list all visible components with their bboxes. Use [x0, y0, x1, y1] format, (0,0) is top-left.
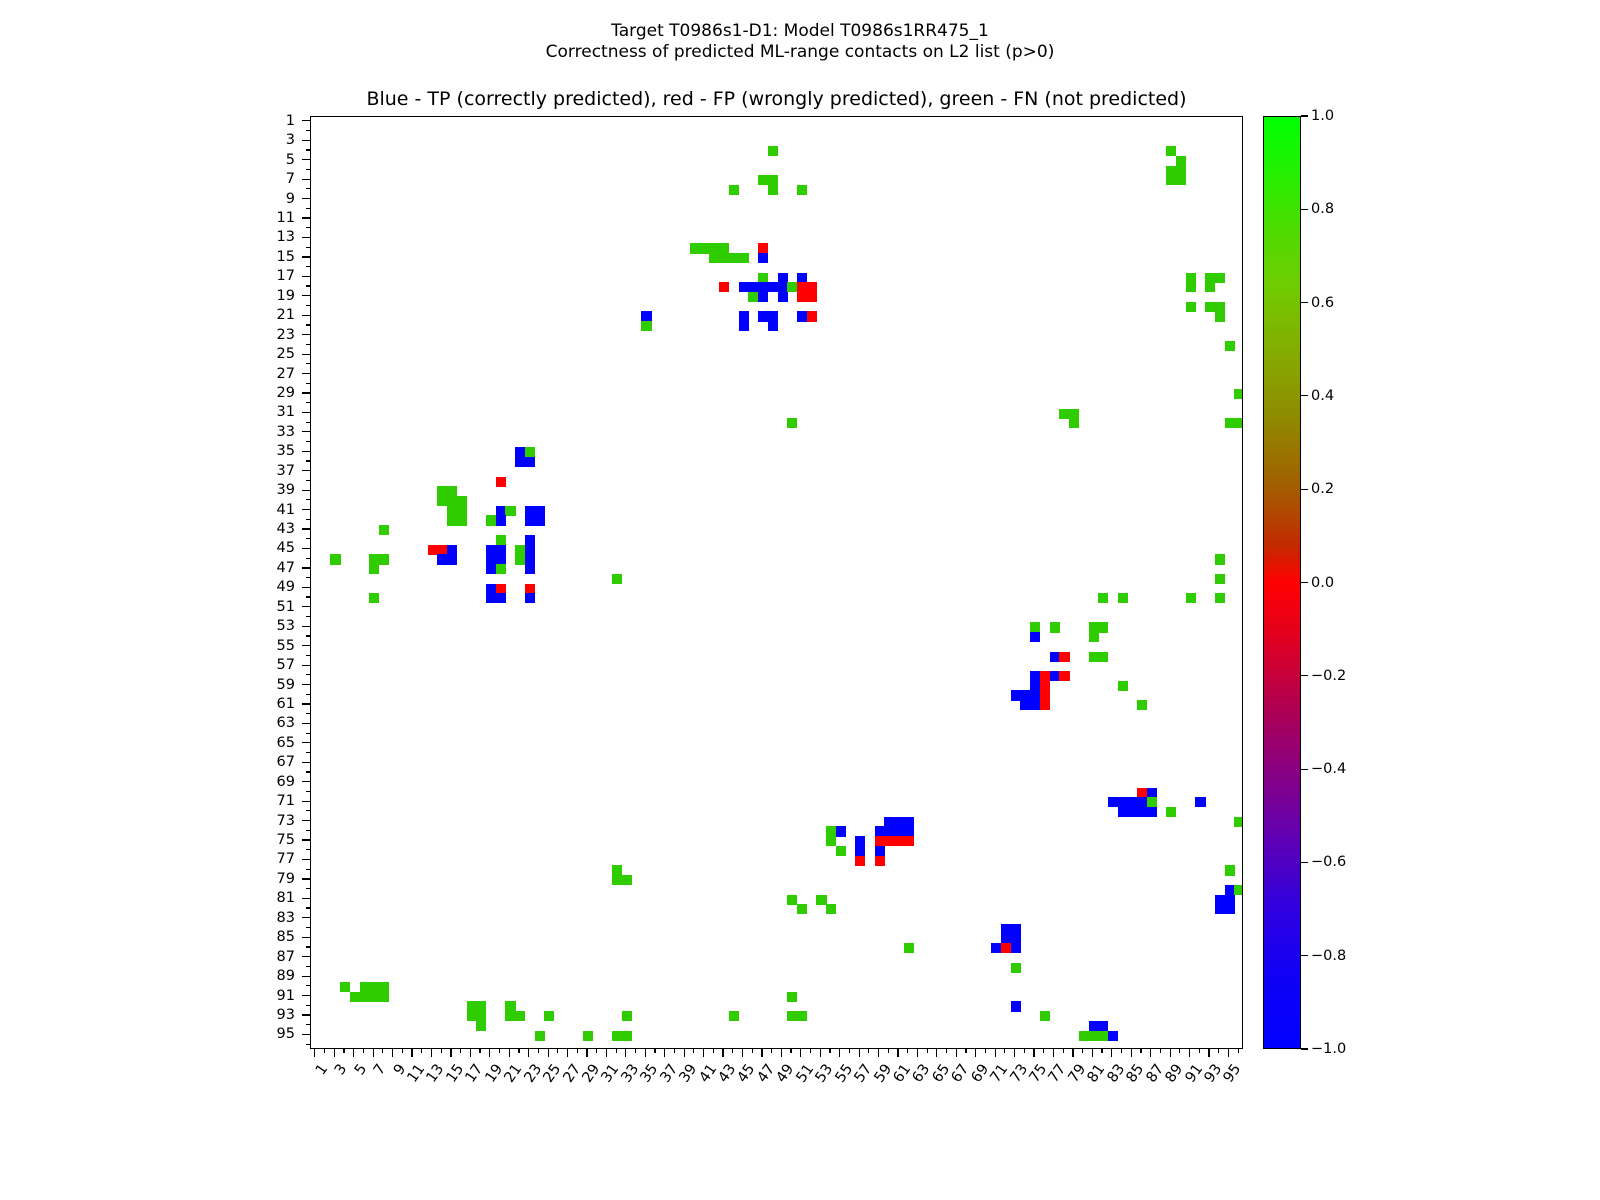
colorbar-tick-mark	[1301, 302, 1308, 303]
y-tick-mark	[302, 937, 310, 938]
contact-cell	[457, 496, 467, 506]
contact-cell	[1011, 963, 1021, 973]
contact-cell	[525, 593, 535, 603]
y-tick-label: 9	[235, 192, 295, 207]
y-tick-label: 17	[235, 269, 295, 284]
contact-cell	[1137, 807, 1147, 817]
colorbar-tick-label: 0.4	[1311, 389, 1334, 404]
y-tick-minor	[306, 227, 310, 228]
contact-cell	[884, 817, 894, 827]
x-tick-minor	[324, 1049, 325, 1053]
x-tick-minor	[518, 1049, 519, 1053]
contact-cell	[1030, 671, 1040, 681]
x-tick-mark	[314, 1049, 315, 1057]
x-tick-minor	[1101, 1049, 1102, 1053]
contact-cell	[1011, 933, 1021, 943]
colorbar-tick-label: −0.4	[1311, 762, 1346, 777]
contact-cell	[797, 282, 807, 292]
contact-cell	[894, 826, 904, 836]
contact-cell	[1050, 671, 1060, 681]
contact-cell	[496, 593, 506, 603]
contact-cell	[758, 273, 768, 283]
x-tick-mark	[509, 1049, 510, 1057]
contact-cell	[816, 895, 826, 905]
x-tick-minor	[654, 1049, 655, 1053]
colorbar-tick-label: 0.2	[1311, 482, 1334, 497]
contact-cell	[428, 545, 438, 555]
contact-cell	[991, 943, 1001, 953]
x-tick-minor	[829, 1049, 830, 1053]
contact-cell	[1098, 1021, 1108, 1031]
contact-cell	[1059, 671, 1069, 681]
contact-cell	[1069, 409, 1079, 419]
contact-cell	[1089, 1031, 1099, 1041]
y-tick-mark	[302, 354, 310, 355]
x-tick-mark	[431, 1049, 432, 1057]
contact-cell	[1186, 273, 1196, 283]
contact-cell	[875, 836, 885, 846]
x-tick-minor	[538, 1049, 539, 1053]
contact-cell	[612, 574, 622, 584]
y-tick-minor	[306, 169, 310, 170]
x-tick-mark	[897, 1049, 898, 1057]
contact-cell	[797, 311, 807, 321]
y-tick-minor	[306, 208, 310, 209]
contact-cell	[904, 943, 914, 953]
contact-cell	[1040, 690, 1050, 700]
contact-cell	[768, 311, 778, 321]
x-tick-minor	[985, 1049, 986, 1053]
y-tick-minor	[306, 266, 310, 267]
contact-cell	[525, 457, 535, 467]
x-tick-mark	[353, 1049, 354, 1057]
contact-cell	[515, 1011, 525, 1021]
y-tick-label: 41	[235, 503, 295, 518]
contact-cell	[496, 477, 506, 487]
contact-cell	[330, 554, 340, 564]
contact-cell	[641, 321, 651, 331]
y-tick-label: 3	[235, 133, 295, 148]
contact-cell	[525, 584, 535, 594]
y-tick-label: 91	[235, 989, 295, 1004]
contact-cell	[1098, 652, 1108, 662]
contact-cell	[894, 817, 904, 827]
contact-cell	[1089, 652, 1099, 662]
y-tick-mark	[302, 315, 310, 316]
y-tick-mark	[302, 898, 310, 899]
contact-cell	[758, 175, 768, 185]
y-tick-minor	[306, 383, 310, 384]
x-tick-mark	[528, 1049, 529, 1057]
y-tick-mark	[302, 431, 310, 432]
y-tick-mark	[302, 762, 310, 763]
contact-cell	[476, 1011, 486, 1021]
contact-cell	[505, 1001, 515, 1011]
x-tick-mark	[1208, 1049, 1209, 1057]
y-tick-label: 65	[235, 736, 295, 751]
x-tick-mark	[392, 1049, 393, 1057]
contact-cell	[1011, 1001, 1021, 1011]
x-tick-mark	[1072, 1049, 1073, 1057]
contact-cell	[505, 506, 515, 516]
contact-cell	[1186, 302, 1196, 312]
colorbar-tick-mark	[1301, 675, 1308, 676]
colorbar-tick-label: 0.6	[1311, 296, 1334, 311]
colorbar[interactable]	[1263, 116, 1301, 1049]
x-tick-minor	[965, 1049, 966, 1053]
x-tick-mark	[548, 1049, 549, 1057]
contact-cell	[768, 146, 778, 156]
y-tick-label: 13	[235, 230, 295, 245]
contact-cell	[875, 846, 885, 856]
y-tick-label: 19	[235, 289, 295, 304]
x-tick-minor	[771, 1049, 772, 1053]
contact-cell	[797, 292, 807, 302]
colorbar-tick-label: 0.8	[1311, 202, 1334, 217]
contact-cell	[1089, 622, 1099, 632]
y-tick-mark	[302, 878, 310, 879]
y-tick-label: 31	[235, 405, 295, 420]
y-tick-label: 25	[235, 347, 295, 362]
contact-cell	[525, 554, 535, 564]
contact-cell	[515, 447, 525, 457]
y-tick-minor	[306, 869, 310, 870]
x-tick-minor	[1063, 1049, 1064, 1053]
y-tick-mark	[302, 256, 310, 257]
contact-cell	[496, 535, 506, 545]
y-tick-minor	[306, 849, 310, 850]
x-tick-minor	[946, 1049, 947, 1053]
x-tick-minor	[1140, 1049, 1141, 1053]
y-tick-minor	[306, 733, 310, 734]
y-tick-label: 75	[235, 833, 295, 848]
contact-cell	[884, 836, 894, 846]
contact-cell	[360, 982, 370, 992]
x-tick-minor	[1121, 1049, 1122, 1053]
contact-cell	[1108, 1031, 1118, 1041]
x-tick-minor	[693, 1049, 694, 1053]
contact-cell	[1137, 797, 1147, 807]
contact-cell	[768, 282, 778, 292]
x-tick-minor	[1160, 1049, 1161, 1053]
x-tick-mark	[820, 1049, 821, 1057]
x-tick-mark	[1014, 1049, 1015, 1057]
y-tick-mark	[302, 237, 310, 238]
contact-cell	[525, 515, 535, 525]
x-tick-mark	[664, 1049, 665, 1057]
x-tick-mark	[742, 1049, 743, 1057]
contact-cell	[340, 982, 350, 992]
x-tick-mark	[761, 1049, 762, 1057]
y-tick-label: 73	[235, 814, 295, 829]
colorbar-tick-label: −0.2	[1311, 669, 1346, 684]
y-tick-mark	[302, 140, 310, 141]
contact-cell	[826, 826, 836, 836]
y-tick-mark	[302, 412, 310, 413]
contact-cell	[1225, 885, 1235, 895]
contact-cell	[875, 856, 885, 866]
y-tick-mark	[302, 276, 310, 277]
contact-cell	[797, 1011, 807, 1021]
x-tick-mark	[586, 1049, 587, 1057]
y-tick-label: 21	[235, 308, 295, 323]
y-tick-mark	[302, 801, 310, 802]
y-tick-mark	[302, 684, 310, 685]
contact-cell	[855, 836, 865, 846]
contact-cell	[1020, 700, 1030, 710]
y-tick-mark	[302, 1014, 310, 1015]
contact-cell	[1030, 690, 1040, 700]
x-tick-mark	[936, 1049, 937, 1057]
contact-cell	[1147, 788, 1157, 798]
contact-cell	[768, 321, 778, 331]
contact-cell	[855, 856, 865, 866]
y-tick-label: 45	[235, 541, 295, 556]
colorbar-tick-mark	[1301, 1048, 1308, 1049]
figure-suptitle-line1: Target T0986s1-D1: Model T0986s1RR475_1	[0, 20, 1600, 43]
contact-cell	[457, 506, 467, 516]
x-tick-minor	[810, 1049, 811, 1053]
y-tick-mark	[302, 839, 310, 840]
y-tick-mark	[302, 120, 310, 121]
y-tick-minor	[306, 655, 310, 656]
contact-map-cells	[311, 117, 1242, 1048]
y-tick-minor	[306, 771, 310, 772]
y-tick-label: 87	[235, 950, 295, 965]
x-tick-minor	[382, 1049, 383, 1053]
x-tick-mark	[917, 1049, 918, 1057]
y-tick-label: 53	[235, 619, 295, 634]
y-tick-minor	[306, 810, 310, 811]
y-tick-minor	[306, 441, 310, 442]
x-tick-mark	[1131, 1049, 1132, 1057]
contact-cell	[1108, 797, 1118, 807]
contact-cell	[447, 545, 457, 555]
contact-cell	[1098, 1031, 1108, 1041]
x-tick-mark	[567, 1049, 568, 1057]
contact-cell	[904, 836, 914, 846]
y-tick-minor	[306, 538, 310, 539]
contact-cell	[379, 992, 389, 1002]
contact-cell	[758, 282, 768, 292]
contact-cell	[807, 292, 817, 302]
contact-cell	[1205, 273, 1215, 283]
y-tick-label: 1	[235, 114, 295, 129]
contact-cell	[1137, 700, 1147, 710]
contact-cell	[1195, 797, 1205, 807]
x-tick-minor	[363, 1049, 364, 1053]
contact-cell	[729, 185, 739, 195]
x-tick-minor	[402, 1049, 403, 1053]
y-tick-label: 49	[235, 580, 295, 595]
y-tick-mark	[302, 198, 310, 199]
x-tick-minor	[849, 1049, 850, 1053]
contact-cell	[1011, 690, 1021, 700]
y-tick-mark	[302, 392, 310, 393]
contact-cell	[622, 875, 632, 885]
contact-cell	[1001, 924, 1011, 934]
colorbar-tick-mark	[1301, 955, 1308, 956]
contact-cell	[437, 545, 447, 555]
y-tick-label: 47	[235, 561, 295, 576]
contact-cell	[1147, 797, 1157, 807]
contact-map-plot-area[interactable]	[310, 116, 1243, 1049]
contact-cell	[1225, 865, 1235, 875]
y-tick-minor	[306, 985, 310, 986]
contact-cell	[525, 564, 535, 574]
contact-cell	[719, 243, 729, 253]
contact-cell	[729, 1011, 739, 1021]
y-tick-minor	[306, 791, 310, 792]
contact-cell	[1040, 700, 1050, 710]
y-tick-minor	[306, 635, 310, 636]
contact-cell	[486, 515, 496, 525]
x-tick-minor	[1043, 1049, 1044, 1053]
contact-cell	[1176, 156, 1186, 166]
contact-cell	[787, 1011, 797, 1021]
y-tick-label: 43	[235, 522, 295, 537]
y-tick-label: 63	[235, 716, 295, 731]
x-tick-minor	[1218, 1049, 1219, 1053]
x-tick-mark	[684, 1049, 685, 1057]
y-tick-mark	[302, 723, 310, 724]
colorbar-tick-mark	[1301, 862, 1308, 863]
y-tick-minor	[306, 596, 310, 597]
contact-cell	[807, 282, 817, 292]
y-tick-mark	[302, 587, 310, 588]
x-tick-minor	[907, 1049, 908, 1053]
contact-cell	[1215, 574, 1225, 584]
x-tick-minor	[1024, 1049, 1025, 1053]
x-tick-mark	[1170, 1049, 1171, 1057]
contact-cell	[1059, 652, 1069, 662]
y-tick-mark	[302, 490, 310, 491]
contact-cell	[1166, 146, 1176, 156]
contact-cell	[1069, 418, 1079, 428]
contact-cell	[525, 545, 535, 555]
x-tick-minor	[1082, 1049, 1083, 1053]
y-tick-label: 27	[235, 367, 295, 382]
contact-cell	[787, 418, 797, 428]
contact-cell	[1011, 943, 1021, 953]
contact-cell	[369, 992, 379, 1002]
x-tick-mark	[1150, 1049, 1151, 1057]
x-tick-minor	[577, 1049, 578, 1053]
contact-cell	[748, 282, 758, 292]
y-tick-minor	[306, 1044, 310, 1045]
contact-cell	[807, 311, 817, 321]
x-tick-mark	[1092, 1049, 1093, 1057]
y-tick-minor	[306, 519, 310, 520]
contact-cell	[1225, 418, 1235, 428]
y-tick-minor	[306, 1005, 310, 1006]
y-tick-minor	[306, 558, 310, 559]
x-tick-minor	[1179, 1049, 1180, 1053]
x-tick-minor	[732, 1049, 733, 1053]
contact-cell	[1118, 807, 1128, 817]
contact-cell	[1215, 302, 1225, 312]
y-tick-label: 29	[235, 386, 295, 401]
contact-cell	[1040, 1011, 1050, 1021]
y-tick-label: 79	[235, 872, 295, 887]
x-tick-mark	[1228, 1049, 1229, 1057]
contact-cell	[544, 1011, 554, 1021]
contact-cell	[1127, 797, 1137, 807]
x-tick-mark	[489, 1049, 490, 1057]
colorbar-tick-label: −0.6	[1311, 855, 1346, 870]
contact-cell	[1215, 311, 1225, 321]
contact-cell	[739, 253, 749, 263]
y-tick-minor	[306, 460, 310, 461]
contact-cell	[1215, 554, 1225, 564]
contact-cell	[1225, 895, 1235, 905]
contact-cell	[709, 253, 719, 263]
x-tick-minor	[343, 1049, 344, 1053]
contact-cell	[505, 1011, 515, 1021]
contact-cell	[1234, 885, 1243, 895]
contact-cell	[690, 243, 700, 253]
y-tick-mark	[302, 917, 310, 918]
y-tick-label: 59	[235, 678, 295, 693]
x-tick-mark	[703, 1049, 704, 1057]
y-tick-minor	[306, 363, 310, 364]
contact-cell	[360, 992, 370, 1002]
y-tick-label: 67	[235, 755, 295, 770]
contact-cell	[758, 292, 768, 302]
contact-cell	[535, 1031, 545, 1041]
contact-cell	[758, 311, 768, 321]
y-tick-mark	[302, 956, 310, 957]
contact-cell	[1030, 622, 1040, 632]
x-tick-minor	[479, 1049, 480, 1053]
contact-cell	[1011, 924, 1021, 934]
contact-cell	[1030, 700, 1040, 710]
y-tick-mark	[302, 509, 310, 510]
contact-cell	[641, 311, 651, 321]
y-tick-minor	[306, 402, 310, 403]
y-tick-mark	[302, 334, 310, 335]
contact-cell	[1059, 409, 1069, 419]
y-tick-mark	[302, 626, 310, 627]
y-tick-minor	[306, 285, 310, 286]
contact-cell	[1098, 593, 1108, 603]
contact-cell	[729, 253, 739, 263]
contact-cell	[787, 282, 797, 292]
contact-cell	[379, 982, 389, 992]
y-tick-label: 11	[235, 211, 295, 226]
contact-cell	[369, 593, 379, 603]
colorbar-tick-mark	[1301, 582, 1308, 583]
contact-cell	[612, 865, 622, 875]
contact-cell	[1030, 632, 1040, 642]
x-tick-mark	[995, 1049, 996, 1057]
y-tick-mark	[302, 528, 310, 529]
contact-cell	[1089, 1021, 1099, 1031]
contact-cell	[457, 515, 467, 525]
y-tick-label: 83	[235, 911, 295, 926]
y-tick-label: 5	[235, 153, 295, 168]
contact-cell	[515, 545, 525, 555]
y-tick-minor	[306, 149, 310, 150]
x-tick-minor	[596, 1049, 597, 1053]
contact-cell	[486, 554, 496, 564]
contact-cell	[1215, 273, 1225, 283]
contact-cell	[894, 836, 904, 846]
x-tick-mark	[450, 1049, 451, 1057]
colorbar-tick-label: 1.0	[1311, 109, 1334, 124]
y-tick-minor	[306, 130, 310, 131]
y-tick-minor	[306, 247, 310, 248]
